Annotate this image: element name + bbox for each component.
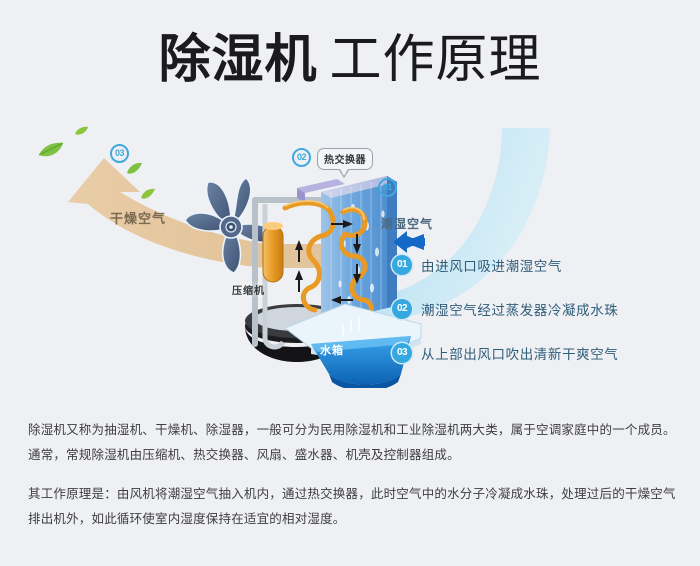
leaf-icon [126,162,143,175]
water-tank-label: 水箱 [320,342,344,358]
leaf-icon [74,126,89,137]
step-text: 从上部出风口吹出清新干爽空气 [421,343,618,363]
title-bold-part: 除湿机 [158,31,317,89]
body-copy: 除湿机又称为抽湿机、干燥机、除湿器，一般可分为民用除湿机和工业除湿机两大类，属于… [28,418,676,532]
humid-air-label: 潮湿空气 [381,215,433,232]
title-light-part: 工作原理 [330,31,542,89]
heat-exchanger-callout: 热交换器 [317,148,373,170]
leaf-icon [38,142,64,160]
list-item: 03 从上部出风口吹出清新干爽空气 [392,343,692,363]
step-text: 由进风口吸进潮湿空气 [421,255,562,275]
dry-air-label: 干燥空气 [110,208,166,227]
compressor-label: 压缩机 [232,282,265,297]
diagram-badge-01: 01 [378,178,397,197]
step-badge: 03 [392,343,412,363]
step-badge: 02 [392,299,412,319]
step-text: 潮湿空气经过蒸发器冷凝成水珠 [421,299,618,319]
body-paragraph-2: 其工作原理是：由风机将潮湿空气抽入机内，通过热交换器，此时空气中的水分子冷凝成水… [28,482,676,532]
body-paragraph-1: 除湿机又称为抽湿机、干燥机、除湿器，一般可分为民用除湿机和工业除湿机两大类，属于… [28,418,676,468]
list-item: 01 由进风口吸进潮湿空气 [392,255,692,275]
diagram-badge-02: 02 [292,148,311,167]
list-item: 02 潮湿空气经过蒸发器冷凝成水珠 [392,299,692,319]
step-list: 01 由进风口吸进潮湿空气 02 潮湿空气经过蒸发器冷凝成水珠 03 从上部出风… [392,255,692,387]
leaf-icon [140,188,156,200]
step-badge: 01 [392,255,412,275]
diagram-badge-03: 03 [110,144,129,163]
page-title: 除湿机工作原理 [0,34,700,86]
dehumidifier-infographic: 除湿机工作原理 [0,0,700,566]
